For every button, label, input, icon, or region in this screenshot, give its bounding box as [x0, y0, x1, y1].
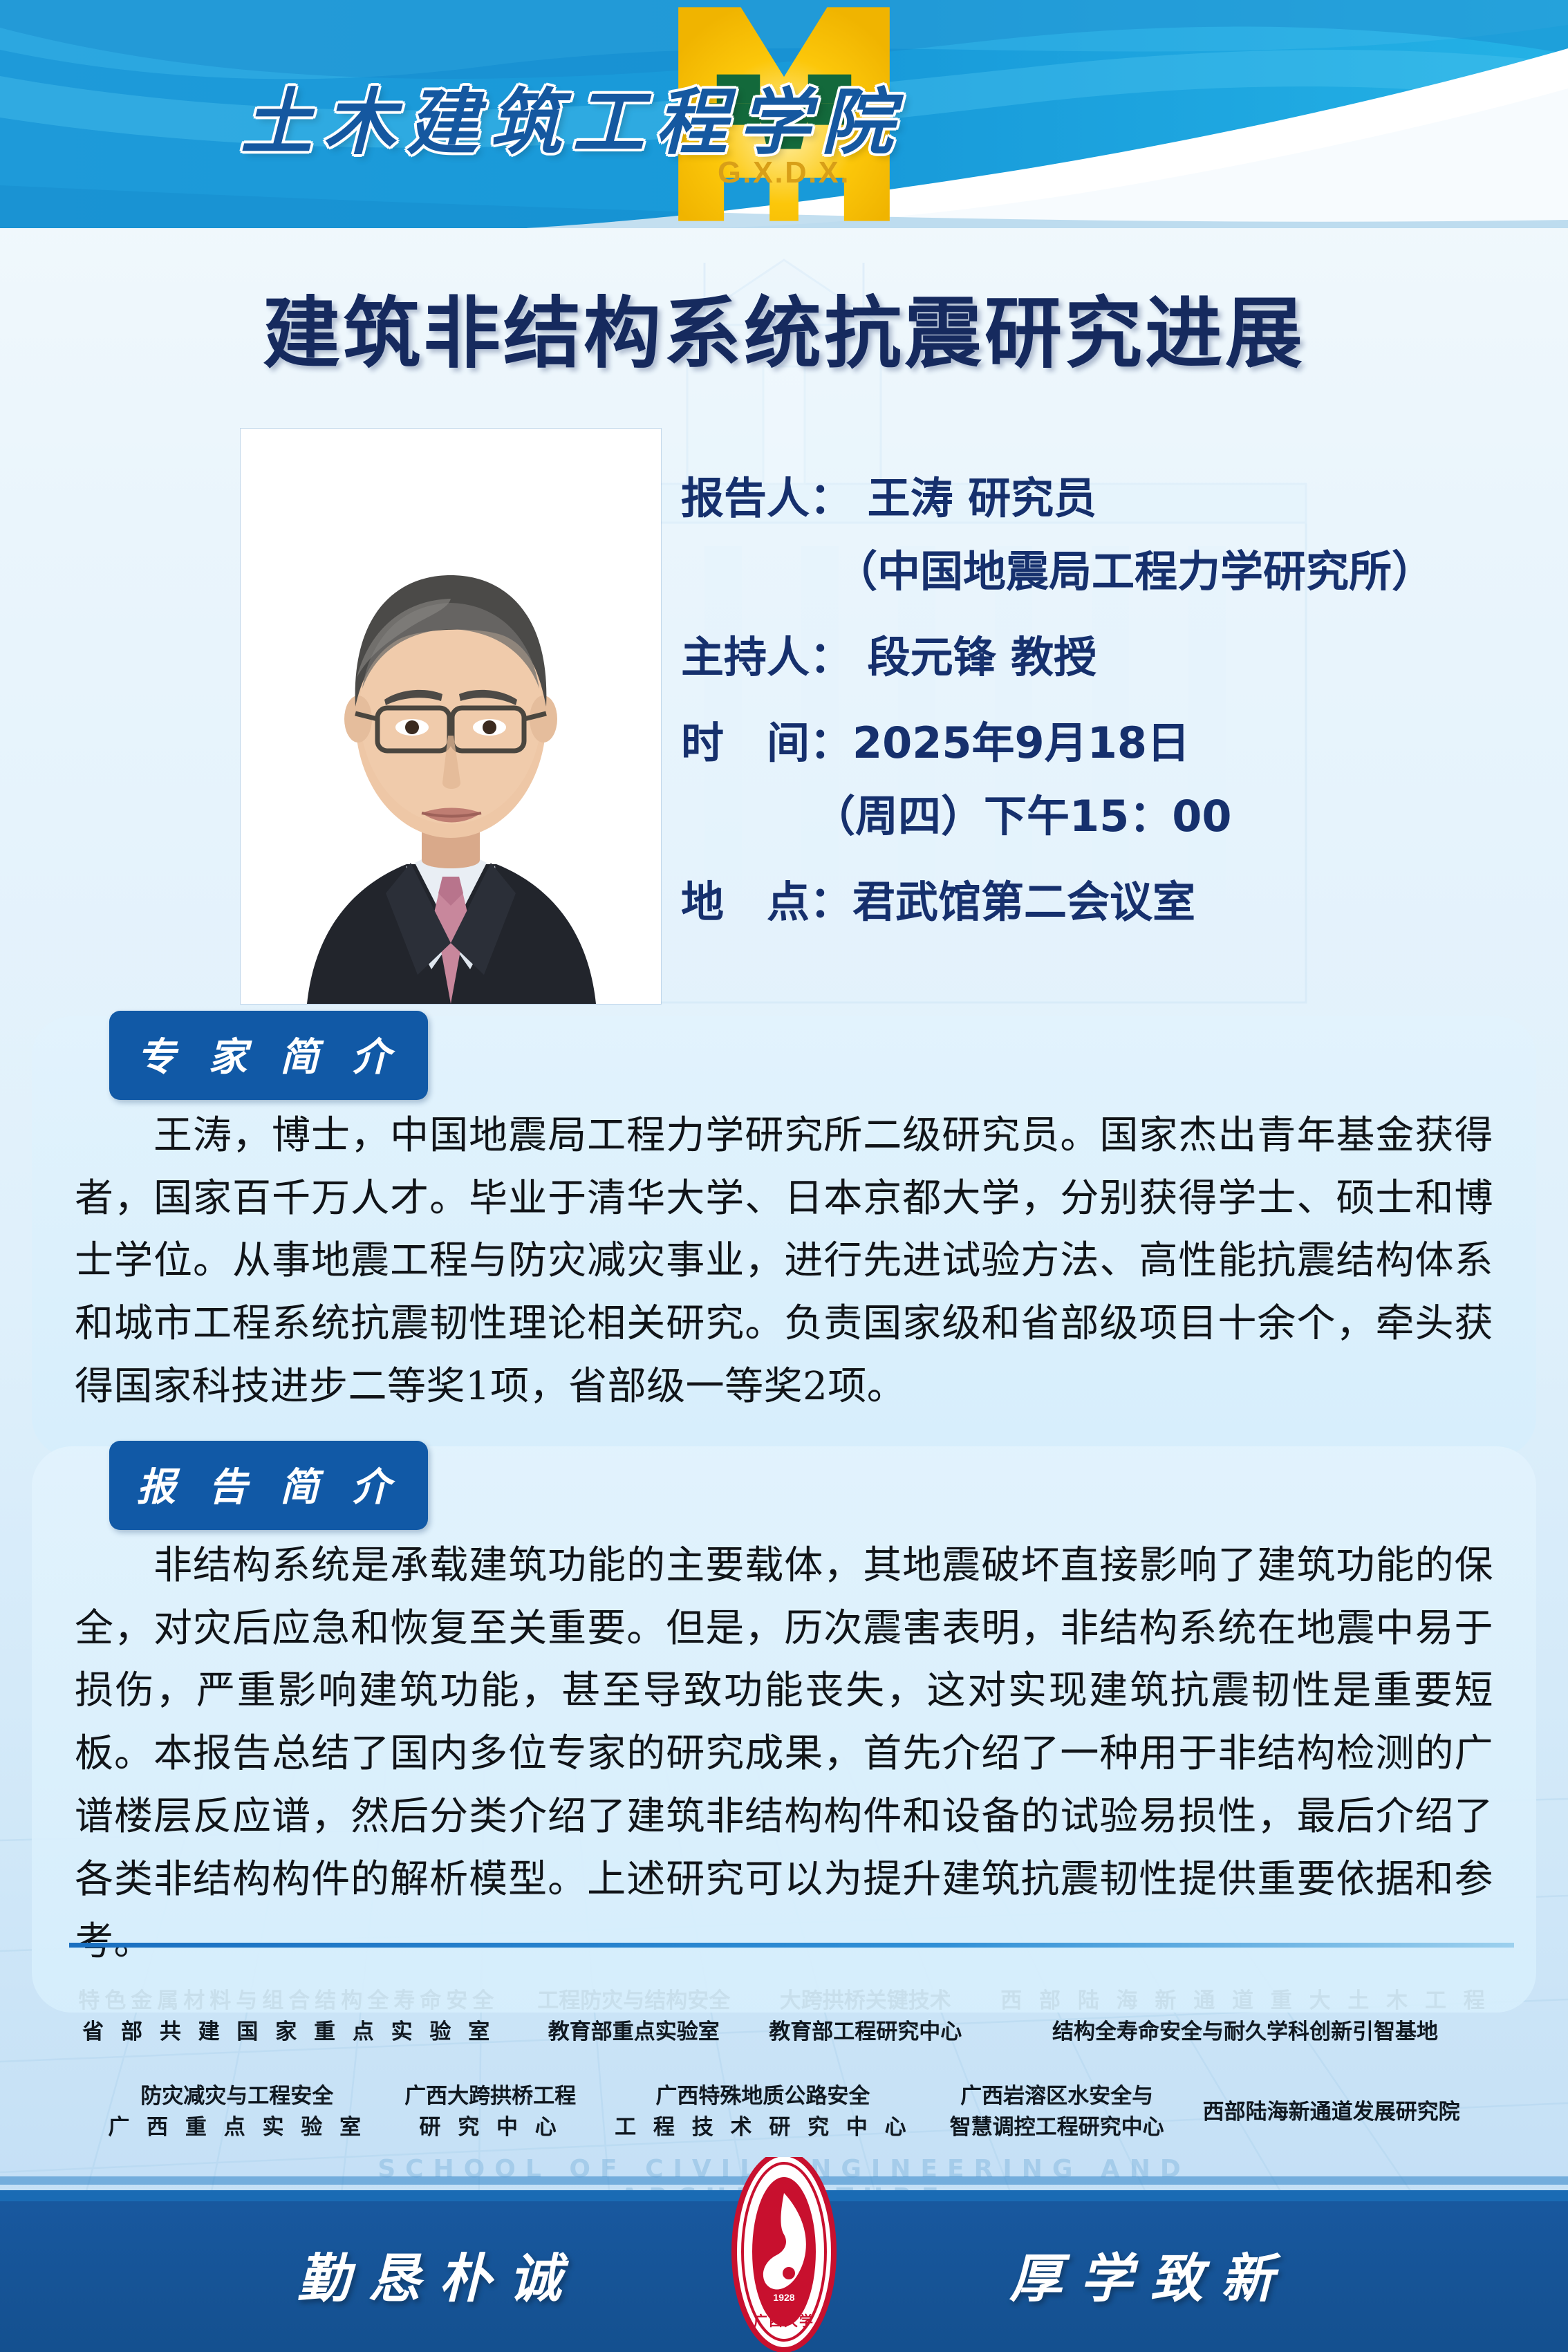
speaker-details: 报告人： 王涛 研究员 （中国地震局工程力学研究所） 主持人： 段元锋 教授 时… [681, 477, 1511, 954]
seminar-poster: G.X.D.X. 土木建筑工程学院 建筑非结构系统抗震研究进展 [0, 0, 1568, 2352]
bottom-banner: 土木建筑工程学院 SCHOOL OF CIVIL ENGINEERING AND… [0, 2157, 1568, 2352]
lab-line-2: 智慧调控工程研究中心 [950, 2112, 1164, 2143]
time-line: 时 间：2025年9月18日 [681, 722, 1511, 765]
lab-divider-rule [69, 1943, 1514, 1948]
lab-line-2: 广 西 重 点 实 验 室 [108, 2112, 366, 2143]
university-seal-icon: 广西大学 1928 [684, 2157, 884, 2352]
page-title: 建筑非结构系统抗震研究进展 [0, 271, 1568, 383]
lab-line-1: 防灾减灾与工程安全 [108, 2081, 366, 2112]
lab-item: 防灾减灾与工程安全 广 西 重 点 实 验 室 [88, 2081, 385, 2144]
lab-line-1: 西部陆海新通道发展研究院 [1203, 2097, 1460, 2128]
lab-item: 广西大跨拱桥工程 研 究 中 心 [385, 2081, 595, 2144]
lab-line-2: 结构全寿命安全与耐久学科创新引智基地 [1000, 2017, 1490, 2048]
motto-right: 厚学致新 [1009, 2236, 1291, 2312]
expert-intro-text: 王涛，博士，中国地震局工程力学研究所二级研究员。国家杰出青年基金获得者，国家百千… [75, 1105, 1493, 1419]
lab-line-2: 研 究 中 心 [404, 2112, 576, 2143]
place-line: 地 点：君武馆第二会议室 [681, 881, 1511, 924]
lab-item: 广西特殊地质公路安全 工 程 技 术 研 究 中 心 [595, 2081, 931, 2144]
svg-text:1928: 1928 [773, 2292, 794, 2303]
lab-line-2: 工 程 技 术 研 究 中 心 [615, 2112, 911, 2143]
school-name-title: 土木建筑工程学院 [241, 64, 904, 168]
lab-line-1: 广西大跨拱桥工程 [404, 2081, 576, 2112]
report-intro-panel: 非结构系统是承载建筑功能的主要载体，其地震破坏直接影响了建筑功能的保全，对灾后应… [32, 1446, 1536, 2013]
avatar [241, 429, 661, 1004]
lab-item: 西部陆海新通道发展研究院 [1184, 2081, 1480, 2145]
poster-header: G.X.D.X. 土木建筑工程学院 [0, 0, 1568, 228]
lab-line-2: 省 部 共 建 国 家 重 点 实 验 室 [78, 2017, 498, 2048]
expert-intro-tag: 专 家 简 介 [109, 1011, 428, 1100]
report-intro-section: 报 告 简 介 非结构系统是承载建筑功能的主要载体，其地震破坏直接影响了建筑功能… [32, 1446, 1536, 2013]
lab-item: 广西岩溶区水安全与 智慧调控工程研究中心 [931, 2081, 1184, 2144]
speaker-line: 报告人： 王涛 研究员 [681, 477, 1511, 520]
lab-line-2: 教育部工程研究中心 [769, 2017, 962, 2048]
speaker-portrait [241, 429, 661, 1004]
host-line: 主持人： 段元锋 教授 [681, 636, 1511, 679]
motto-left: 勤恳朴诚 [297, 2236, 579, 2312]
time-line-detail: （周四）下午15：00 [681, 795, 1511, 838]
lab-line-1: 广西岩溶区水安全与 [950, 2081, 1164, 2112]
lab-line-1: 广西特殊地质公路安全 [615, 2081, 911, 2112]
report-intro-text: 非结构系统是承载建筑功能的主要载体，其地震破坏直接影响了建筑功能的保全，对灾后应… [75, 1535, 1493, 1974]
speaker-affiliation: （中国地震局工程力学研究所） [681, 550, 1511, 593]
report-intro-tag: 报 告 简 介 [109, 1441, 428, 1530]
svg-text:广西大学: 广西大学 [754, 2313, 814, 2329]
lab-line-2: 教育部重点实验室 [537, 2017, 730, 2048]
lab-labels-row-2: 防灾减灾与工程安全 广 西 重 点 实 验 室 广西大跨拱桥工程 研 究 中 心… [0, 2081, 1568, 2145]
expert-intro-section: 专 家 简 介 王涛，博士，中国地震局工程力学研究所二级研究员。国家杰出青年基金… [32, 1016, 1536, 1457]
